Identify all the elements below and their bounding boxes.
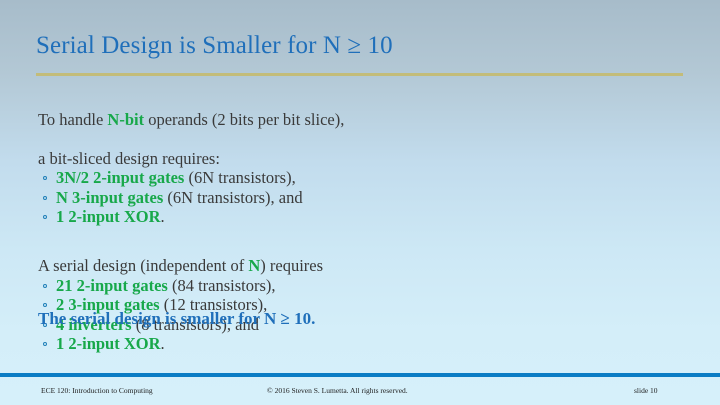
bullet-tail: (6N transistors), bbox=[184, 168, 295, 187]
intro-line1-post: operands (2 bits per bit slice), bbox=[144, 110, 344, 129]
page-title: Serial Design is Smaller for N ≥ 10 bbox=[36, 31, 393, 61]
bullet-tail: (84 transistors), bbox=[168, 276, 276, 295]
list-item: 21 2-input gates (84 transistors), bbox=[38, 276, 688, 296]
list-item: N 3-input gates (6N transistors), and bbox=[38, 188, 688, 208]
bullet-tail: . bbox=[161, 207, 165, 226]
slide-footer: ECE 120: Introduction to Computing © 201… bbox=[0, 386, 720, 398]
footer-course-label: ECE 120: Introduction to Computing bbox=[41, 386, 153, 395]
ring-bullet-icon bbox=[43, 303, 47, 307]
list-item: 3N/2 2-input gates (6N transistors), bbox=[38, 168, 688, 188]
ring-bullet-icon bbox=[43, 342, 47, 346]
ring-bullet-icon bbox=[43, 284, 47, 288]
title-divider bbox=[36, 73, 683, 76]
bullet-highlight: 1 2-input XOR bbox=[56, 334, 161, 353]
intro-paragraph: To handle N-bit operands (2 bits per bit… bbox=[38, 90, 688, 168]
footer-slide-number: slide 10 bbox=[634, 386, 658, 395]
ring-bullet-icon bbox=[43, 196, 47, 200]
bullet-tail: (6N transistors), and bbox=[163, 188, 302, 207]
intro-line2: a bit-sliced design requires: bbox=[38, 149, 220, 168]
bitsliced-bullet-list: 3N/2 2-input gates (6N transistors), N 3… bbox=[38, 168, 688, 227]
bullet-highlight: 21 2-input gates bbox=[56, 276, 168, 295]
bullet-highlight: 3N/2 2-input gates bbox=[56, 168, 184, 187]
bullet-tail: . bbox=[161, 334, 165, 353]
intro-line1-pre: To handle bbox=[38, 110, 107, 129]
conclusion-statement: The serial design is smaller for N ≥ 10. bbox=[38, 309, 315, 329]
serial-highlight-n: N bbox=[248, 256, 260, 275]
serial-line-post: ) requires bbox=[260, 256, 323, 275]
section-gap bbox=[38, 227, 688, 237]
slide-canvas: Serial Design is Smaller for N ≥ 10 To h… bbox=[0, 0, 720, 405]
ring-bullet-icon bbox=[43, 176, 47, 180]
footer-divider bbox=[0, 373, 720, 377]
serial-paragraph: A serial design (independent of N) requi… bbox=[38, 237, 688, 276]
bullet-highlight: N 3-input gates bbox=[56, 188, 163, 207]
serial-line-pre: A serial design (independent of bbox=[38, 256, 248, 275]
list-item: 1 2-input XOR. bbox=[38, 207, 688, 227]
bullet-highlight: 1 2-input XOR bbox=[56, 207, 161, 226]
footer-copyright: © 2016 Steven S. Lumetta. All rights res… bbox=[267, 386, 408, 395]
list-item: 1 2-input XOR. bbox=[38, 334, 688, 354]
intro-highlight-nbit: N-bit bbox=[107, 110, 144, 129]
ring-bullet-icon bbox=[43, 215, 47, 219]
